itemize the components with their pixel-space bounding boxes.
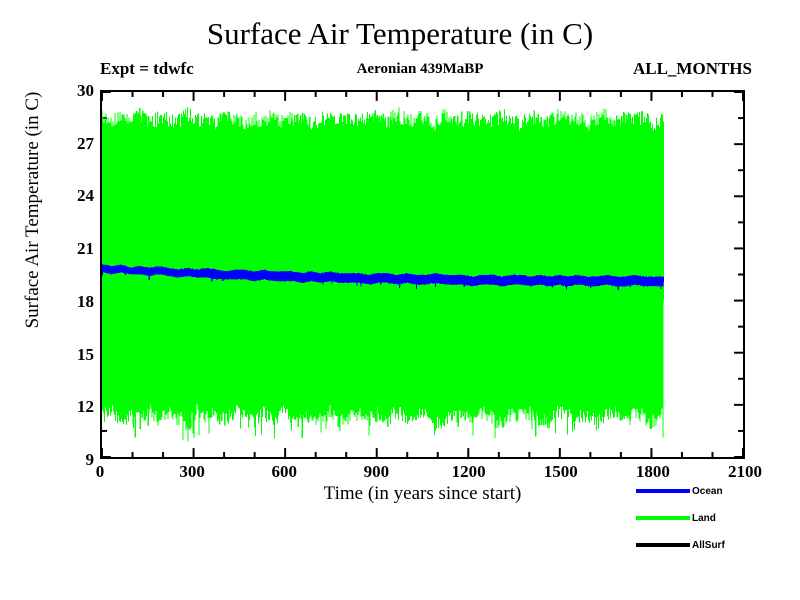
legend: OceanLandAllSurf bbox=[636, 482, 796, 562]
y-tick-label: 15 bbox=[54, 346, 94, 363]
y-tick-label: 27 bbox=[54, 135, 94, 152]
y-tick-label: 24 bbox=[54, 187, 94, 204]
x-tick-label: 900 bbox=[341, 463, 411, 480]
legend-label: Land bbox=[692, 513, 716, 524]
plot-area bbox=[100, 90, 745, 459]
y-axis-title: Surface Air Temperature (in C) bbox=[22, 20, 46, 400]
legend-item: Ocean bbox=[636, 482, 723, 500]
x-tick-label: 0 bbox=[65, 463, 135, 480]
y-axis-tick-labels: 912151821242730 bbox=[50, 90, 94, 459]
x-tick-label: 600 bbox=[249, 463, 319, 480]
x-tick-label: 1200 bbox=[434, 463, 504, 480]
legend-item: Land bbox=[636, 509, 716, 527]
legend-label: Ocean bbox=[692, 486, 723, 497]
page-title: Surface Air Temperature (in C) bbox=[0, 16, 800, 52]
x-tick-label: 300 bbox=[157, 463, 227, 480]
x-tick-label: 2100 bbox=[710, 463, 780, 480]
y-tick-label: 30 bbox=[54, 82, 94, 99]
x-tick-label: 1500 bbox=[526, 463, 596, 480]
legend-color-swatch bbox=[636, 516, 690, 520]
y-tick-label: 18 bbox=[54, 293, 94, 310]
months-label: ALL_MONTHS bbox=[633, 59, 752, 79]
legend-color-swatch bbox=[636, 489, 690, 493]
x-tick-label: 1800 bbox=[618, 463, 688, 480]
chart-container: Surface Air Temperature (in C) Expt = td… bbox=[0, 0, 800, 600]
legend-item: AllSurf bbox=[636, 536, 725, 554]
y-tick-label: 21 bbox=[54, 240, 94, 257]
plot-canvas bbox=[102, 92, 743, 457]
y-tick-label: 12 bbox=[54, 398, 94, 415]
legend-color-swatch bbox=[636, 543, 690, 547]
legend-label: AllSurf bbox=[692, 540, 725, 551]
